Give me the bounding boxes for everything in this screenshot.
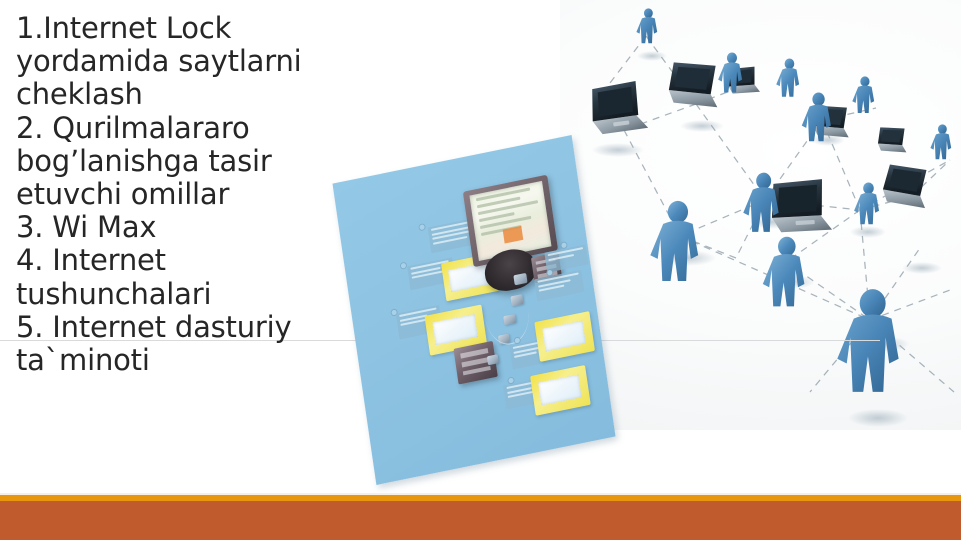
- slide-body-text: 1.Internet Lock yordamida saytlarni chek…: [16, 12, 346, 377]
- text-line: cheklash: [16, 78, 346, 111]
- person-icon: [852, 76, 874, 113]
- network-diagram-graphic: [560, 0, 961, 430]
- laptop-icon: [668, 61, 722, 107]
- person-icon: [650, 201, 698, 281]
- text-line: etuvchi omillar: [16, 178, 346, 211]
- laptop-icon: [588, 80, 648, 135]
- poster-card: [530, 365, 591, 416]
- text-line: 2. Qurilmalararo: [16, 112, 346, 145]
- poster-surface: [332, 135, 615, 485]
- person-icon: [854, 182, 879, 224]
- poster-bullet: [419, 224, 425, 230]
- text-line: 4. Internet: [16, 244, 346, 277]
- laptop-icon: [877, 127, 908, 153]
- poster-bullet: [401, 263, 407, 269]
- laptop-icon: [881, 163, 932, 208]
- poster-device: [487, 354, 499, 365]
- text-line: 3. Wi Max: [16, 211, 346, 244]
- text-line: 5. Internet dasturiy: [16, 311, 346, 344]
- network-photo: [560, 0, 961, 430]
- poster-image: [352, 158, 607, 483]
- text-line: 1.Internet Lock: [16, 12, 346, 45]
- person-icon: [930, 124, 951, 159]
- text-line: bog’lanishga tasir: [16, 145, 346, 178]
- network-shadows: [592, 51, 942, 427]
- slide-canvas: 1.Internet Lock yordamida saytlarni chek…: [0, 0, 961, 540]
- bottom-banner: [0, 501, 961, 540]
- person-icon: [763, 237, 805, 307]
- text-line: yordamida saytlarni: [16, 45, 346, 78]
- text-line: tushunchalari: [16, 278, 346, 311]
- poster-card: [534, 311, 595, 362]
- person-icon: [776, 58, 799, 96]
- text-line: ta`minoti: [16, 344, 346, 377]
